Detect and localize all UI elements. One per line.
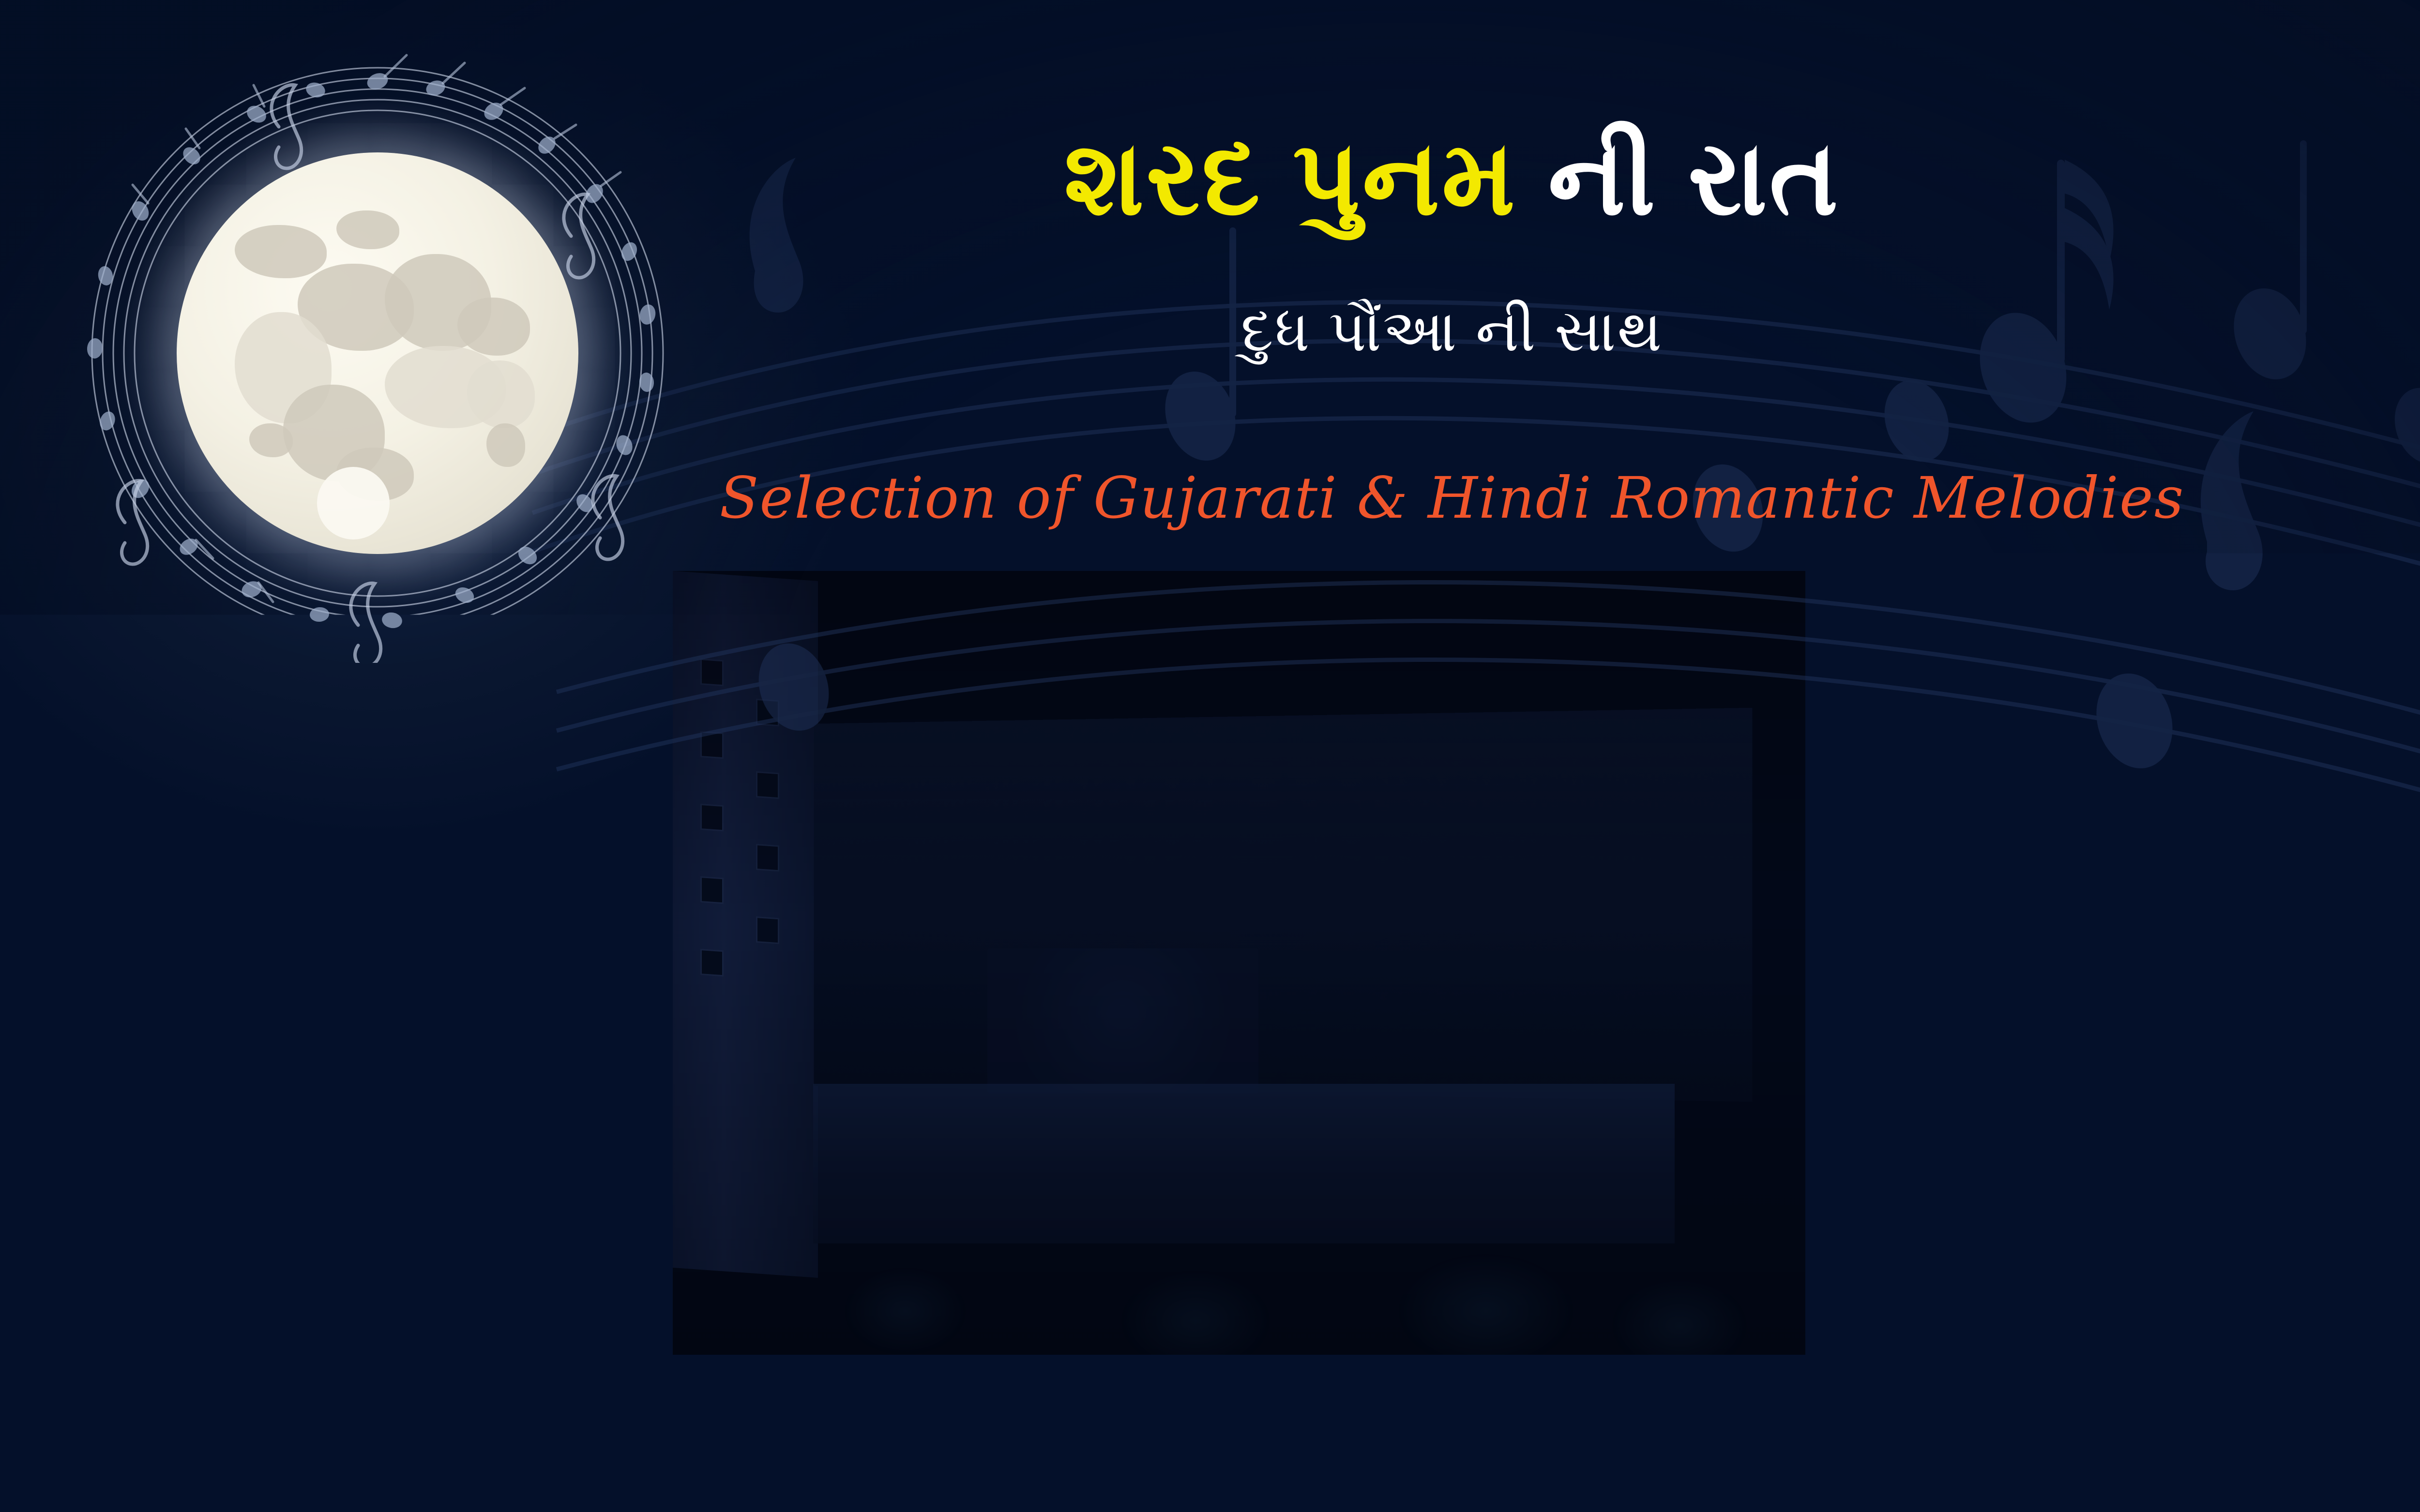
artist-name: PRIYANKA BASU [0, 866, 2420, 994]
page-title: શરદ પુનમ ની રાત [0, 123, 2420, 233]
date-time-row: 9TH OCTOBER 7 PM ONWARDS [881, 1108, 2004, 1181]
with-label: With [0, 784, 2420, 846]
event-date: 9TH OCTOBER [960, 1109, 1373, 1180]
registration-note-text: Registration For Members & Guests Throug… [45, 1288, 1013, 1332]
members-price: FREE FOR MEMBERS! [41, 1127, 642, 1190]
date-ordinal: TH [996, 1118, 1036, 1151]
event-time: 7 PM ONWARDS [1422, 1109, 1924, 1180]
performer-portrait [2251, 560, 2420, 1469]
title-white-part: ની રાત [1548, 120, 1840, 236]
guests-price: ₹ 150 FOR GUESTS [41, 1212, 510, 1269]
event-poster: CLUB 7 ...an urban escape શરદ પુનમ ની રા… [0, 0, 2420, 1512]
title-yellow-part: શરદ પુનમ [1064, 120, 1517, 236]
date-number: 9 [960, 1110, 996, 1179]
event-tagline: Illuminating magic under the full moon, [0, 665, 2420, 739]
paisley-border-pattern [0, 1370, 2420, 1427]
date-month: OCTOBER [1055, 1110, 1374, 1179]
footer-address: Club O7, South Bopal- Shela [1232, 1471, 1672, 1505]
melodies-line: Selection of Gujarati & Hindi Romantic M… [0, 464, 2420, 531]
footer-contact: 02717 245707/9375075109. Club O7, South … [0, 1427, 2420, 1512]
footer-phone: 02717 245707/9375075109. [1249, 1435, 1655, 1468]
page-subtitle: દુધ પૌંઆ ની સાથ [0, 298, 2420, 365]
ornamental-border-band [0, 1370, 2420, 1427]
registration-note-pill[interactable]: Registration For Members & Guests Throug… [29, 1281, 1029, 1342]
date-time-separator [1395, 1108, 1399, 1181]
